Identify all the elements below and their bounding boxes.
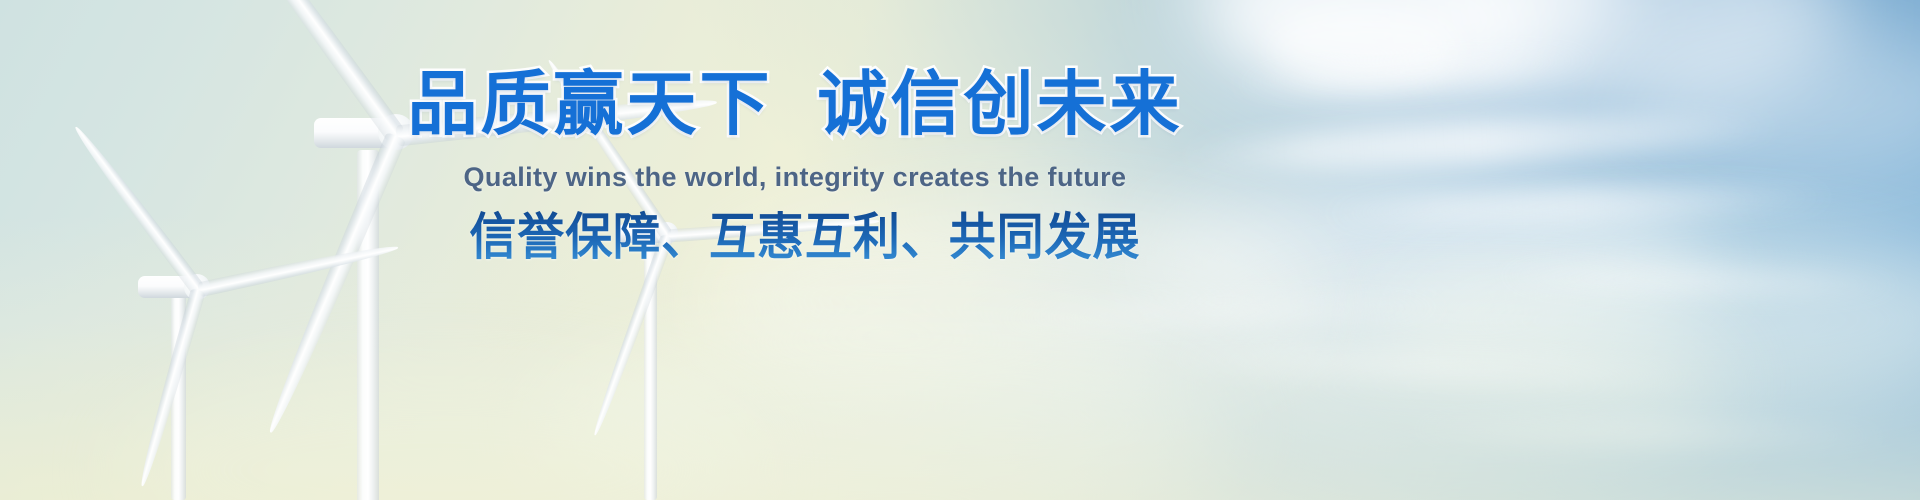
banner-tagline-chinese: 信誉保障、互惠互利、共同发展 bbox=[58, 197, 1863, 269]
banner-headline-chinese: 品质赢天下 诚信创未来 bbox=[0, 62, 1920, 146]
banner-subtitle-english: Quality wins the world, integrity create… bbox=[0, 160, 1920, 194]
hero-banner: 品质赢天下 诚信创未来 Quality wins the world, inte… bbox=[0, 0, 1920, 500]
banner-text-layer: 品质赢天下 诚信创未来 Quality wins the world, inte… bbox=[0, 0, 1920, 500]
